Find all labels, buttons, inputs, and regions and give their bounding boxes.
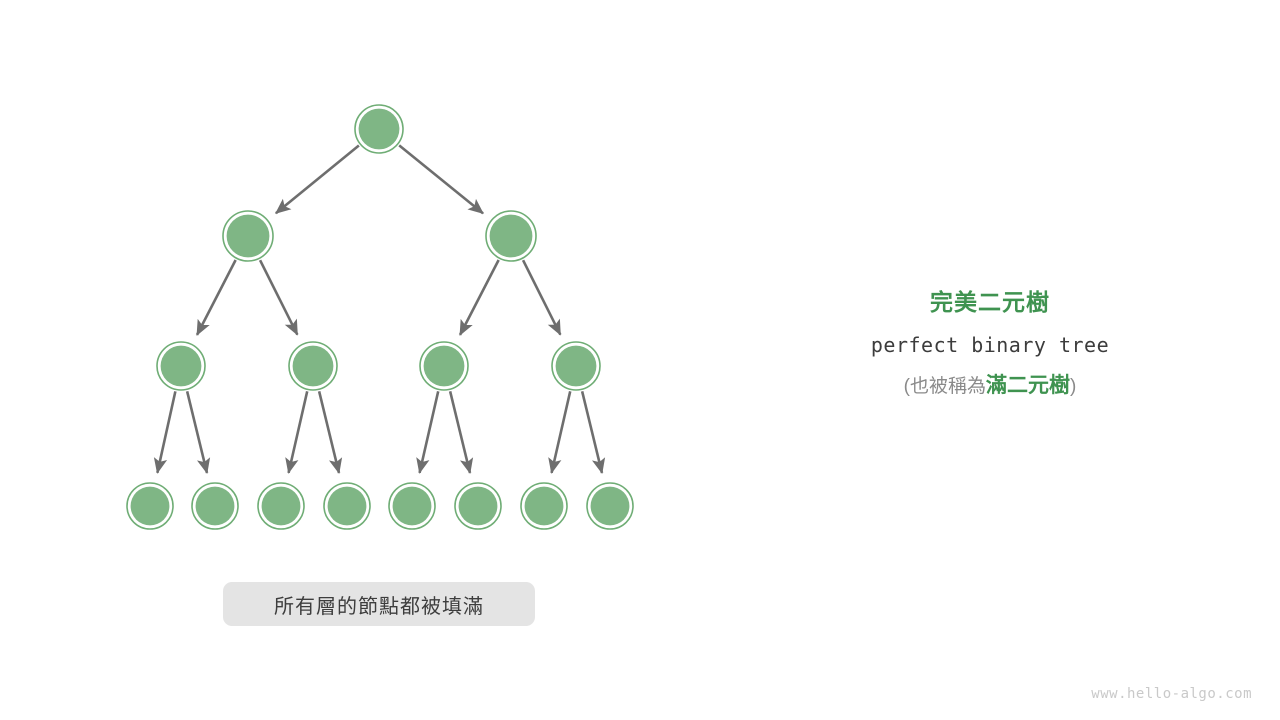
watermark: www.hello-algo.com — [1091, 686, 1252, 702]
tree-node — [587, 483, 633, 529]
tree-edge — [420, 391, 439, 473]
caption-pill: 所有層的節點都被填滿 — [223, 582, 535, 626]
tree-node-fill — [293, 346, 334, 387]
tree-node — [521, 483, 567, 529]
tree-edge — [276, 145, 359, 213]
tree-node-fill — [196, 487, 235, 526]
tree-node — [355, 105, 403, 153]
tree-edge — [197, 260, 236, 335]
diagram-canvas: 完美二元樹 perfect binary tree (也被稱為滿二元樹) 所有層… — [0, 0, 1280, 720]
legend-alias-suffix: ) — [1070, 376, 1076, 397]
tree-edge — [187, 391, 207, 473]
tree-node-fill — [525, 487, 564, 526]
node-layer — [127, 105, 633, 529]
legend-alias-term: 滿二元樹 — [986, 374, 1070, 397]
tree-node — [389, 483, 435, 529]
tree-edge — [523, 260, 560, 335]
tree-node-fill — [490, 215, 533, 258]
tree-node — [324, 483, 370, 529]
legend-alias: (也被稱為滿二元樹) — [790, 373, 1190, 399]
tree-edge — [319, 391, 339, 473]
tree-edge — [552, 391, 571, 473]
tree-node-fill — [131, 487, 170, 526]
tree-node-fill — [393, 487, 432, 526]
legend-alias-prefix: (也被稱為 — [904, 376, 986, 397]
tree-node-fill — [161, 346, 202, 387]
tree-node-fill — [556, 346, 597, 387]
caption-text: 所有層的節點都被填滿 — [274, 590, 484, 619]
tree-node-fill — [227, 215, 270, 258]
tree-edge — [460, 260, 499, 335]
legend-title: 完美二元樹 — [790, 288, 1190, 317]
tree-edge — [399, 145, 483, 213]
tree-node-fill — [591, 487, 630, 526]
tree-node — [289, 342, 337, 390]
tree-edge — [289, 391, 308, 473]
tree-node — [223, 211, 273, 261]
tree-node — [127, 483, 173, 529]
tree-node — [486, 211, 536, 261]
tree-node-fill — [424, 346, 465, 387]
tree-node — [192, 483, 238, 529]
tree-node-fill — [328, 487, 367, 526]
tree-node — [420, 342, 468, 390]
legend-subtitle: perfect binary tree — [790, 333, 1190, 357]
tree-node — [455, 483, 501, 529]
tree-node-fill — [459, 487, 498, 526]
tree-edge — [157, 391, 175, 472]
tree-node-fill — [262, 487, 301, 526]
tree-node — [157, 342, 205, 390]
tree-edge — [450, 391, 470, 473]
tree-node-fill — [359, 109, 400, 150]
tree-edge — [582, 391, 602, 473]
tree-node — [258, 483, 304, 529]
legend-block: 完美二元樹 perfect binary tree (也被稱為滿二元樹) — [790, 288, 1190, 399]
tree-node — [552, 342, 600, 390]
edge-layer — [157, 145, 602, 473]
tree-edge — [260, 260, 297, 335]
